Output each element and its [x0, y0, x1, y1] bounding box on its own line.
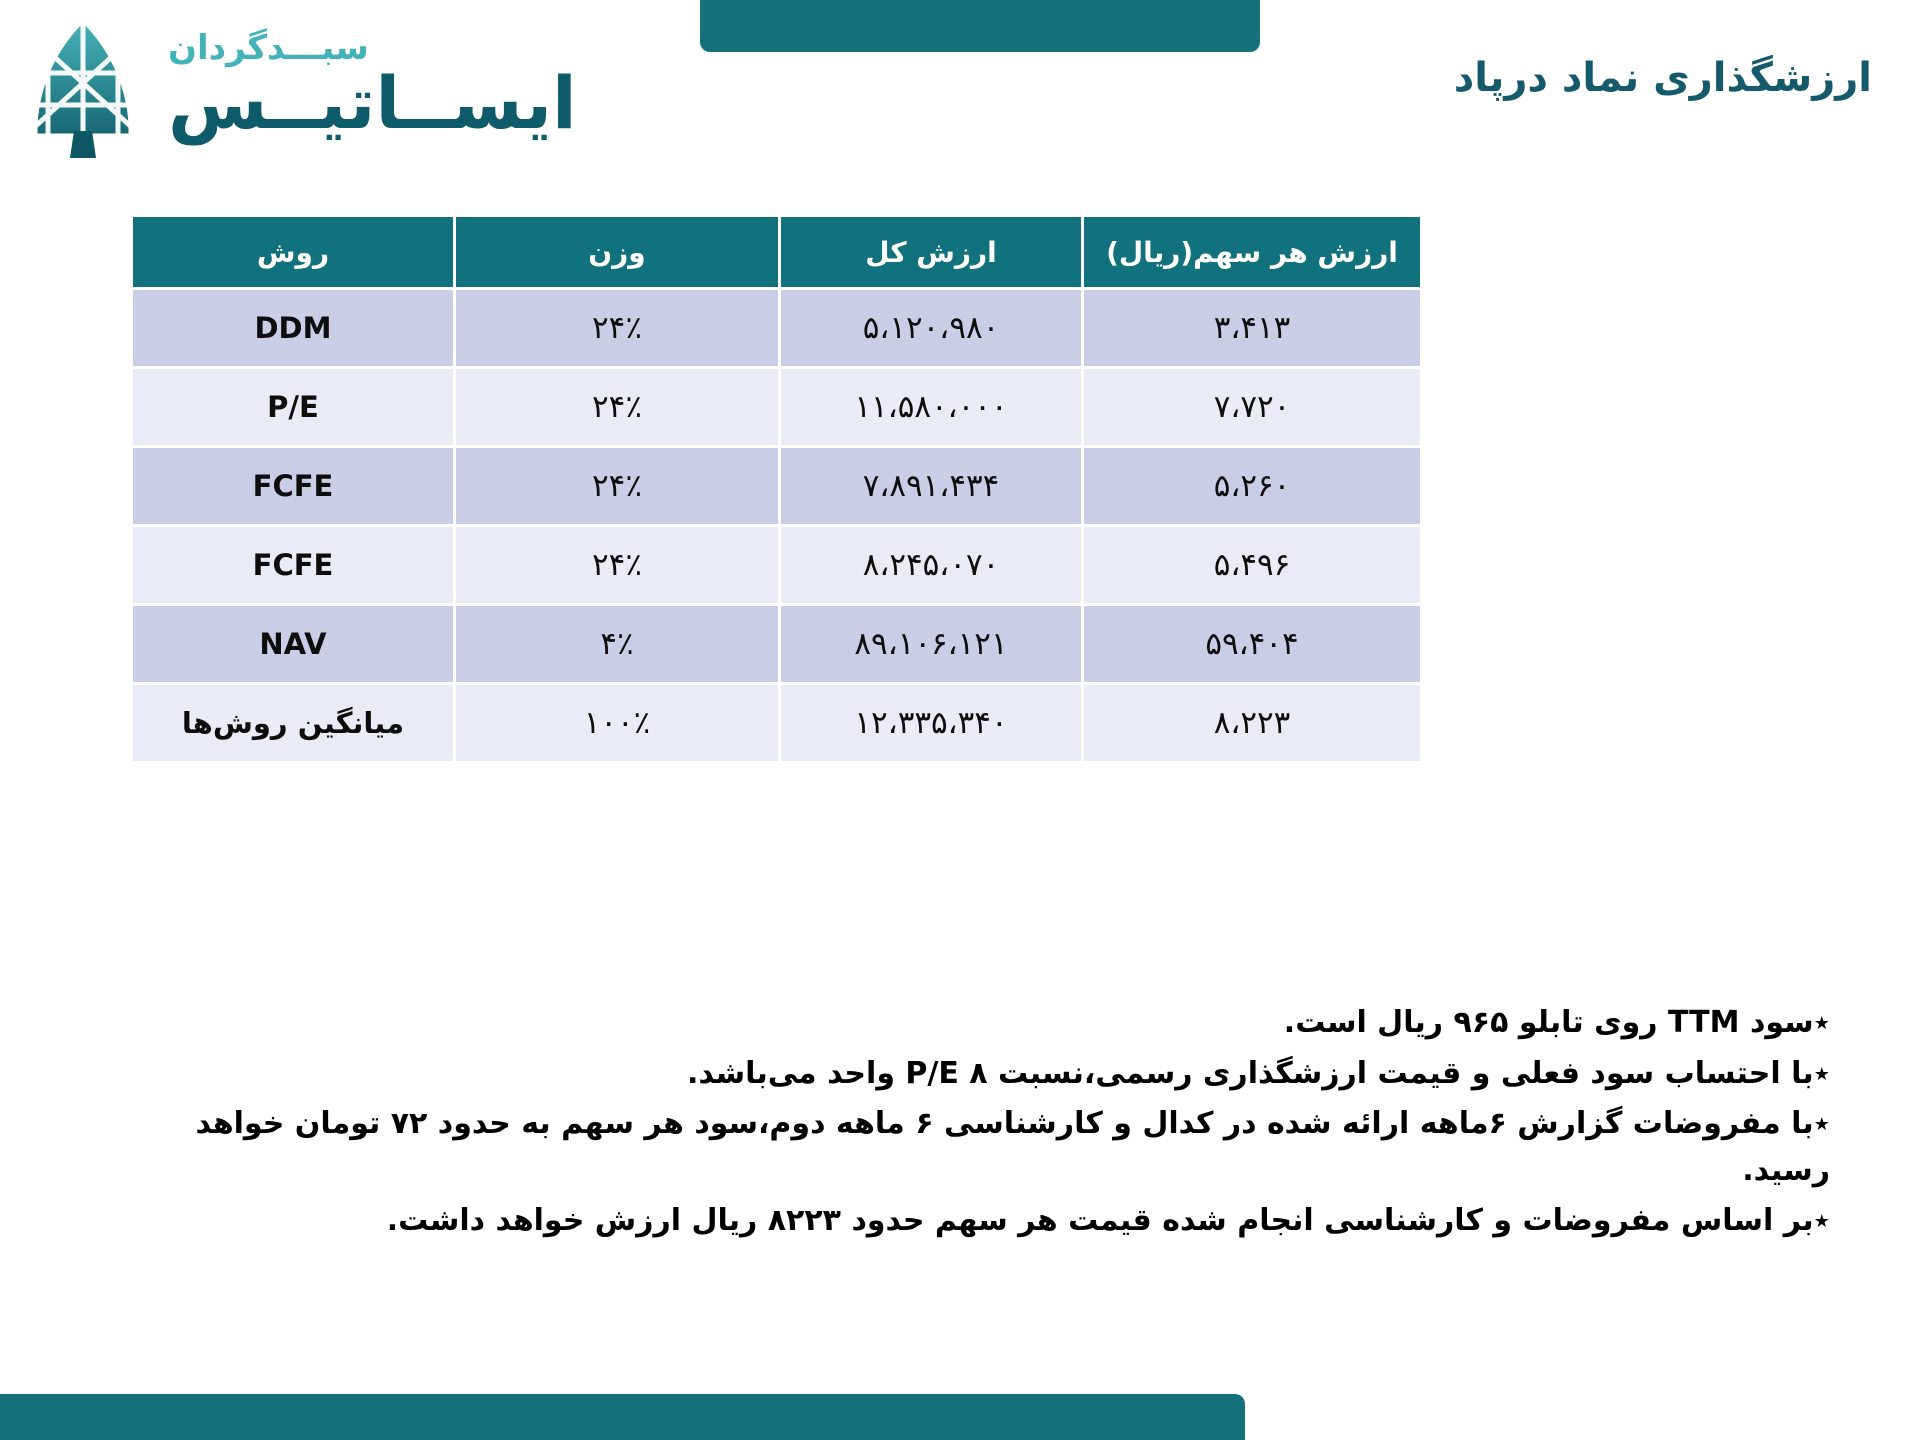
- table-row: ۵،۲۶۰ ۷،۸۹۱،۴۳۴ ۲۴٪ FCFE: [133, 448, 1420, 524]
- column-header-method: روش: [133, 217, 453, 287]
- cell-share-value: ۸،۲۲۳: [1084, 685, 1420, 761]
- table-header-row: ارزش هر سهم(ریال) ارزش کل وزن روش: [133, 217, 1420, 287]
- cell-share-value: ۳،۴۱۳: [1084, 290, 1420, 366]
- brand-wordmark: سبـــدگردان ایســاتیــس: [168, 31, 577, 145]
- cell-method: میانگین روش‌ها: [133, 685, 453, 761]
- footnote-item: ٭سود TTM روی تابلو ۹۶۵ ریال است.: [160, 1000, 1830, 1047]
- cell-total-value: ۱۲،۳۳۵،۳۴۰: [781, 685, 1081, 761]
- brand-line-2: ایســاتیــس: [168, 67, 577, 139]
- dome-arch-logo-icon: [8, 13, 158, 163]
- cell-weight: ۴٪: [456, 606, 778, 682]
- cell-total-value: ۸۹،۱۰۶،۱۲۱: [781, 606, 1081, 682]
- cell-share-value: ۷،۷۲۰: [1084, 369, 1420, 445]
- valuation-table: ارزش هر سهم(ریال) ارزش کل وزن روش ۳،۴۱۳ …: [130, 214, 1423, 764]
- table-row: ۳،۴۱۳ ۵،۱۲۰،۹۸۰ ۲۴٪ DDM: [133, 290, 1420, 366]
- cell-total-value: ۷،۸۹۱،۴۳۴: [781, 448, 1081, 524]
- cell-total-value: ۸،۲۴۵،۰۷۰: [781, 527, 1081, 603]
- cell-weight: ۲۴٪: [456, 369, 778, 445]
- table-row: ۵،۴۹۶ ۸،۲۴۵،۰۷۰ ۲۴٪ FCFE: [133, 527, 1420, 603]
- cell-method: DDM: [133, 290, 453, 366]
- table-body: ۳،۴۱۳ ۵،۱۲۰،۹۸۰ ۲۴٪ DDM ۷،۷۲۰ ۱۱،۵۸۰،۰۰۰…: [133, 290, 1420, 761]
- cell-method: P/E: [133, 369, 453, 445]
- footnotes: ٭سود TTM روی تابلو ۹۶۵ ریال است. ٭با احت…: [160, 1000, 1830, 1249]
- cell-method: FCFE: [133, 448, 453, 524]
- footnote-item: ٭با احتساب سود فعلی و قیمت ارزشگذاری رسم…: [160, 1051, 1830, 1098]
- bottom-accent-bar: [0, 1394, 1245, 1440]
- cell-weight: ۲۴٪: [456, 527, 778, 603]
- cell-share-value: ۵،۴۹۶: [1084, 527, 1420, 603]
- table-row: ۷،۷۲۰ ۱۱،۵۸۰،۰۰۰ ۲۴٪ P/E: [133, 369, 1420, 445]
- cell-method: FCFE: [133, 527, 453, 603]
- valuation-table-container: ارزش هر سهم(ریال) ارزش کل وزن روش ۳،۴۱۳ …: [145, 214, 1423, 764]
- cell-share-value: ۵،۲۶۰: [1084, 448, 1420, 524]
- column-header-total-value: ارزش کل: [781, 217, 1081, 287]
- brand-line-1: سبـــدگردان: [168, 31, 369, 65]
- cell-weight: ۱۰۰٪: [456, 685, 778, 761]
- column-header-share-value: ارزش هر سهم(ریال): [1084, 217, 1420, 287]
- footnote-item: ٭با مفروضات گزارش ۶ماهه ارائه شده در کدا…: [160, 1101, 1830, 1194]
- top-accent-bar: [700, 0, 1260, 52]
- page-title: ارزشگذاری نماد درپاد: [1454, 55, 1872, 101]
- column-header-weight: وزن: [456, 217, 778, 287]
- footnote-item: ٭بر اساس مفروضات و کارشناسی انجام شده قی…: [160, 1198, 1830, 1245]
- table-header: ارزش هر سهم(ریال) ارزش کل وزن روش: [133, 217, 1420, 287]
- cell-weight: ۲۴٪: [456, 290, 778, 366]
- cell-total-value: ۵،۱۲۰،۹۸۰: [781, 290, 1081, 366]
- cell-method: NAV: [133, 606, 453, 682]
- table-row: ۵۹،۴۰۴ ۸۹،۱۰۶،۱۲۱ ۴٪ NAV: [133, 606, 1420, 682]
- cell-total-value: ۱۱،۵۸۰،۰۰۰: [781, 369, 1081, 445]
- cell-weight: ۲۴٪: [456, 448, 778, 524]
- brand-logo: سبـــدگردان ایســاتیــس: [8, 8, 568, 168]
- cell-share-value: ۵۹،۴۰۴: [1084, 606, 1420, 682]
- table-row: ۸،۲۲۳ ۱۲،۳۳۵،۳۴۰ ۱۰۰٪ میانگین روش‌ها: [133, 685, 1420, 761]
